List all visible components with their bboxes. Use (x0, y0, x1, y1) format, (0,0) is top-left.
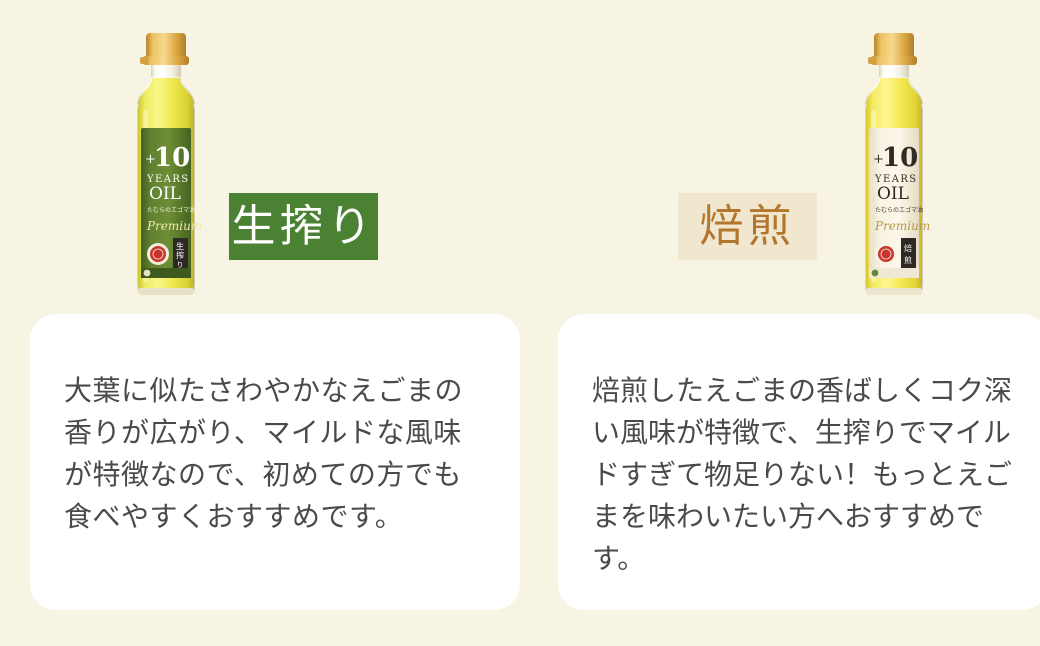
svg-text:OIL: OIL (877, 184, 909, 204)
comparison-page: + 10 YEARS OIL たむらのエゴマ油 Premium 生 搾 り (0, 0, 1040, 646)
svg-text:たむらのエゴマ油: たむらのエゴマ油 (875, 206, 923, 214)
variant-column-baisen: + 10 YEARS OIL たむらのエゴマ油 Premium 焙 煎 (520, 0, 1040, 646)
variant-column-nama-shibori: + 10 YEARS OIL たむらのエゴマ油 Premium 生 搾 り (0, 0, 520, 646)
hero-nama-shibori: + 10 YEARS OIL たむらのエゴマ油 Premium 生 搾 り (0, 0, 520, 310)
product-bottle-nama-shibori[interactable]: + 10 YEARS OIL たむらのエゴマ油 Premium 生 搾 り (130, 32, 202, 300)
svg-text:たむらのエゴマ油: たむらのエゴマ油 (147, 206, 195, 214)
svg-text:煎: 煎 (904, 255, 912, 265)
svg-text:搾: 搾 (176, 250, 184, 260)
variant-badge-nama-shibori: 生搾り (229, 193, 378, 260)
svg-text:10: 10 (154, 143, 190, 173)
variant-badge-baisen: 焙煎 (678, 193, 817, 260)
svg-text:生: 生 (176, 241, 184, 251)
description-card-nama-shibori: 大葉に似たさわやかなえごまの香りが広がり、マイルドな風味が特徴なので、初めての方… (30, 314, 520, 610)
svg-text:Premium: Premium (874, 219, 930, 233)
description-text: 大葉に似たさわやかなえごまの香りが広がり、マイルドな風味が特徴なので、初めての方… (64, 370, 486, 538)
svg-text:焙: 焙 (904, 243, 912, 253)
description-text: 焙煎したえごまの香ばしくコク深い風味が特徴で、生搾りでマイルドすぎて物足りない！… (592, 370, 1014, 580)
variant-badge-label: 焙煎 (700, 205, 796, 249)
svg-text:10: 10 (882, 143, 918, 173)
svg-text:り: り (177, 261, 184, 269)
product-bottle-baisen[interactable]: + 10 YEARS OIL たむらのエゴマ油 Premium 焙 煎 (858, 32, 930, 300)
variant-badge-label: 生搾り (232, 205, 376, 249)
hero-baisen: + 10 YEARS OIL たむらのエゴマ油 Premium 焙 煎 (520, 0, 1040, 310)
description-card-baisen: 焙煎したえごまの香ばしくコク深い風味が特徴で、生搾りでマイルドすぎて物足りない！… (558, 314, 1040, 610)
svg-text:Premium: Premium (146, 219, 202, 233)
svg-text:OIL: OIL (149, 184, 181, 204)
